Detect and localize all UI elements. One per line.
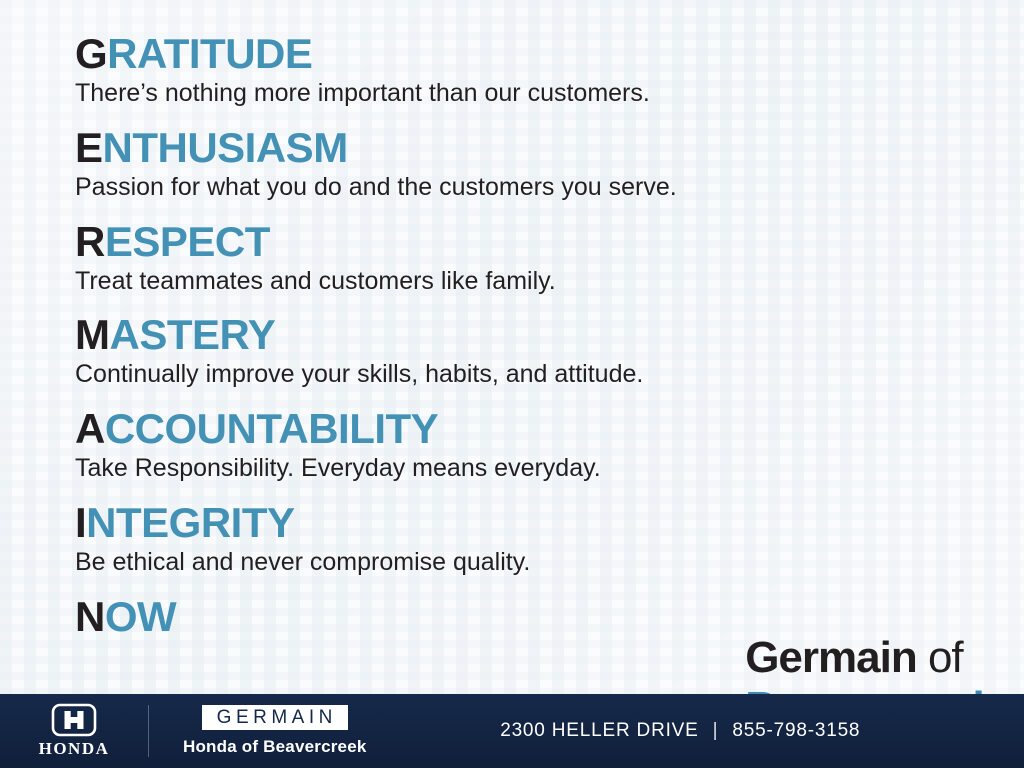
value-initial: A (75, 405, 105, 452)
value-remainder: CCOUNTABILITY (105, 405, 438, 452)
honda-logo-group: HONDA (0, 703, 148, 759)
value-remainder: RATITUDE (107, 30, 312, 77)
value-block-accountability: ACCOUNTABILITY Take Responsibility. Ever… (75, 408, 1024, 483)
value-remainder: ASTERY (110, 311, 276, 358)
value-remainder: NTHUSIASM (103, 124, 348, 171)
value-initial: R (75, 218, 105, 265)
value-heading-gratitude: GRATITUDE (75, 33, 1024, 75)
value-text-mastery: Continually improve your skills, habits,… (75, 360, 1024, 389)
brand-lockup-line-1: Germain of (745, 636, 996, 680)
value-initial: N (75, 593, 105, 640)
footer-bar: HONDA GERMAIN Honda of Beavercreek 2300 … (0, 694, 1024, 768)
germain-logo-group: GERMAIN Honda of Beavercreek (149, 705, 367, 758)
value-heading-integrity: INTEGRITY (75, 502, 1024, 544)
value-initial: G (75, 30, 107, 77)
value-block-gratitude: GRATITUDE There’s nothing more important… (75, 33, 1024, 108)
footer-contact-separator: | (699, 720, 733, 742)
value-heading-now: NOW (75, 596, 1024, 638)
value-heading-accountability: ACCOUNTABILITY (75, 408, 1024, 450)
brand-of: of (917, 633, 963, 682)
value-block-mastery: MASTERY Continually improve your skills,… (75, 314, 1024, 389)
germain-dealership-name: Honda of Beavercreek (183, 737, 367, 757)
value-initial: E (75, 124, 103, 171)
value-text-integrity: Be ethical and never compromise quality. (75, 548, 1024, 577)
value-text-respect: Treat teammates and customers like famil… (75, 267, 1024, 296)
footer-contact-info: 2300 HELLER DRIVE | 855-798-3158 (367, 720, 1024, 742)
value-block-enthusiasm: ENTHUSIASM Passion for what you do and t… (75, 127, 1024, 202)
value-heading-respect: RESPECT (75, 221, 1024, 263)
values-list: GRATITUDE There’s nothing more important… (75, 33, 1024, 657)
value-block-integrity: INTEGRITY Be ethical and never compromis… (75, 502, 1024, 577)
value-text-accountability: Take Responsibility. Everyday means ever… (75, 454, 1024, 483)
value-heading-enthusiasm: ENTHUSIASM (75, 127, 1024, 169)
footer-phone[interactable]: 855-798-3158 (732, 720, 860, 742)
value-text-gratitude: There’s nothing more important than our … (75, 79, 1024, 108)
germain-logo-text: GERMAIN (202, 705, 348, 731)
value-text-enthusiasm: Passion for what you do and the customer… (75, 173, 1024, 202)
value-initial: M (75, 311, 110, 358)
value-block-now: NOW (75, 596, 1024, 638)
value-remainder: ESPECT (105, 218, 270, 265)
honda-h-logo-icon (51, 703, 97, 737)
value-initial: I (75, 499, 86, 546)
brand-name: Germain (745, 633, 917, 682)
value-heading-mastery: MASTERY (75, 314, 1024, 356)
core-values-poster: GRATITUDE There’s nothing more important… (0, 0, 1024, 768)
value-remainder: OW (105, 593, 176, 640)
footer-address: 2300 HELLER DRIVE (500, 720, 698, 742)
value-block-respect: RESPECT Treat teammates and customers li… (75, 221, 1024, 296)
value-remainder: NTEGRITY (86, 499, 294, 546)
honda-wordmark: HONDA (39, 739, 110, 759)
